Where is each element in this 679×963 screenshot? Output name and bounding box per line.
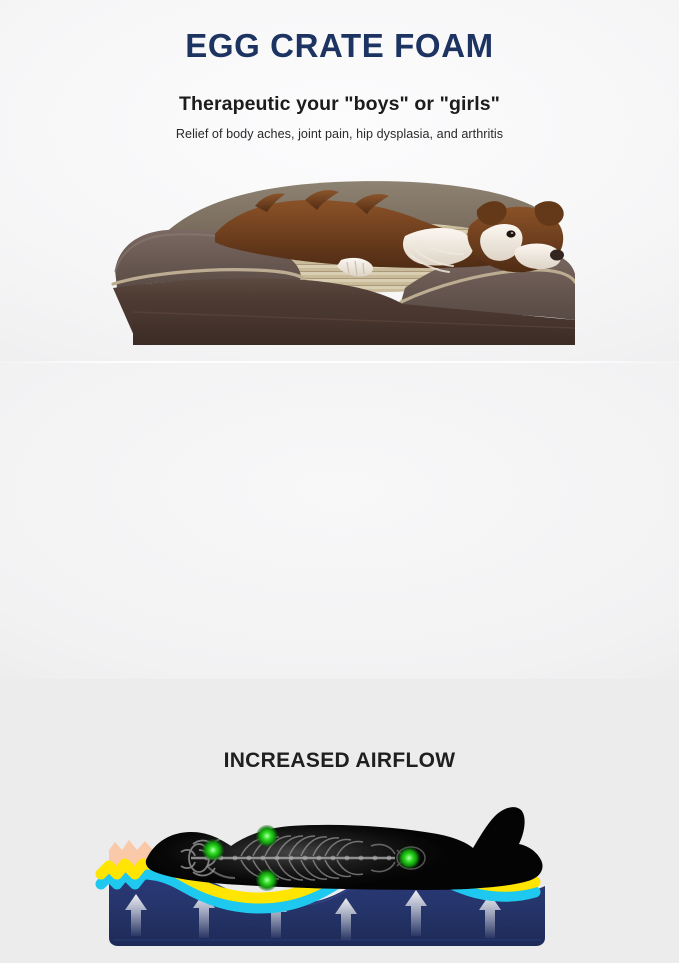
airflow-heading: INCREASED AIRFLOW [0,749,679,773]
product-photo-dog-on-bed [105,160,575,345]
dog-xray-silhouette [145,807,543,891]
tagline-text: Relief of body aches, joint pain, hip dy… [0,127,679,141]
infographic-page: EGG CRATE FOAM Therapeutic your "boys" o… [0,0,679,679]
airflow-cross-section-diagram [95,788,585,963]
top-panel: EGG CRATE FOAM Therapeutic your "boys" o… [0,0,679,362]
subtitle-text: Therapeutic your "boys" or "girls" [0,93,679,116]
page-title: EGG CRATE FOAM [0,27,679,65]
bottom-panel: INCREASED AIRFLOW [0,363,679,679]
